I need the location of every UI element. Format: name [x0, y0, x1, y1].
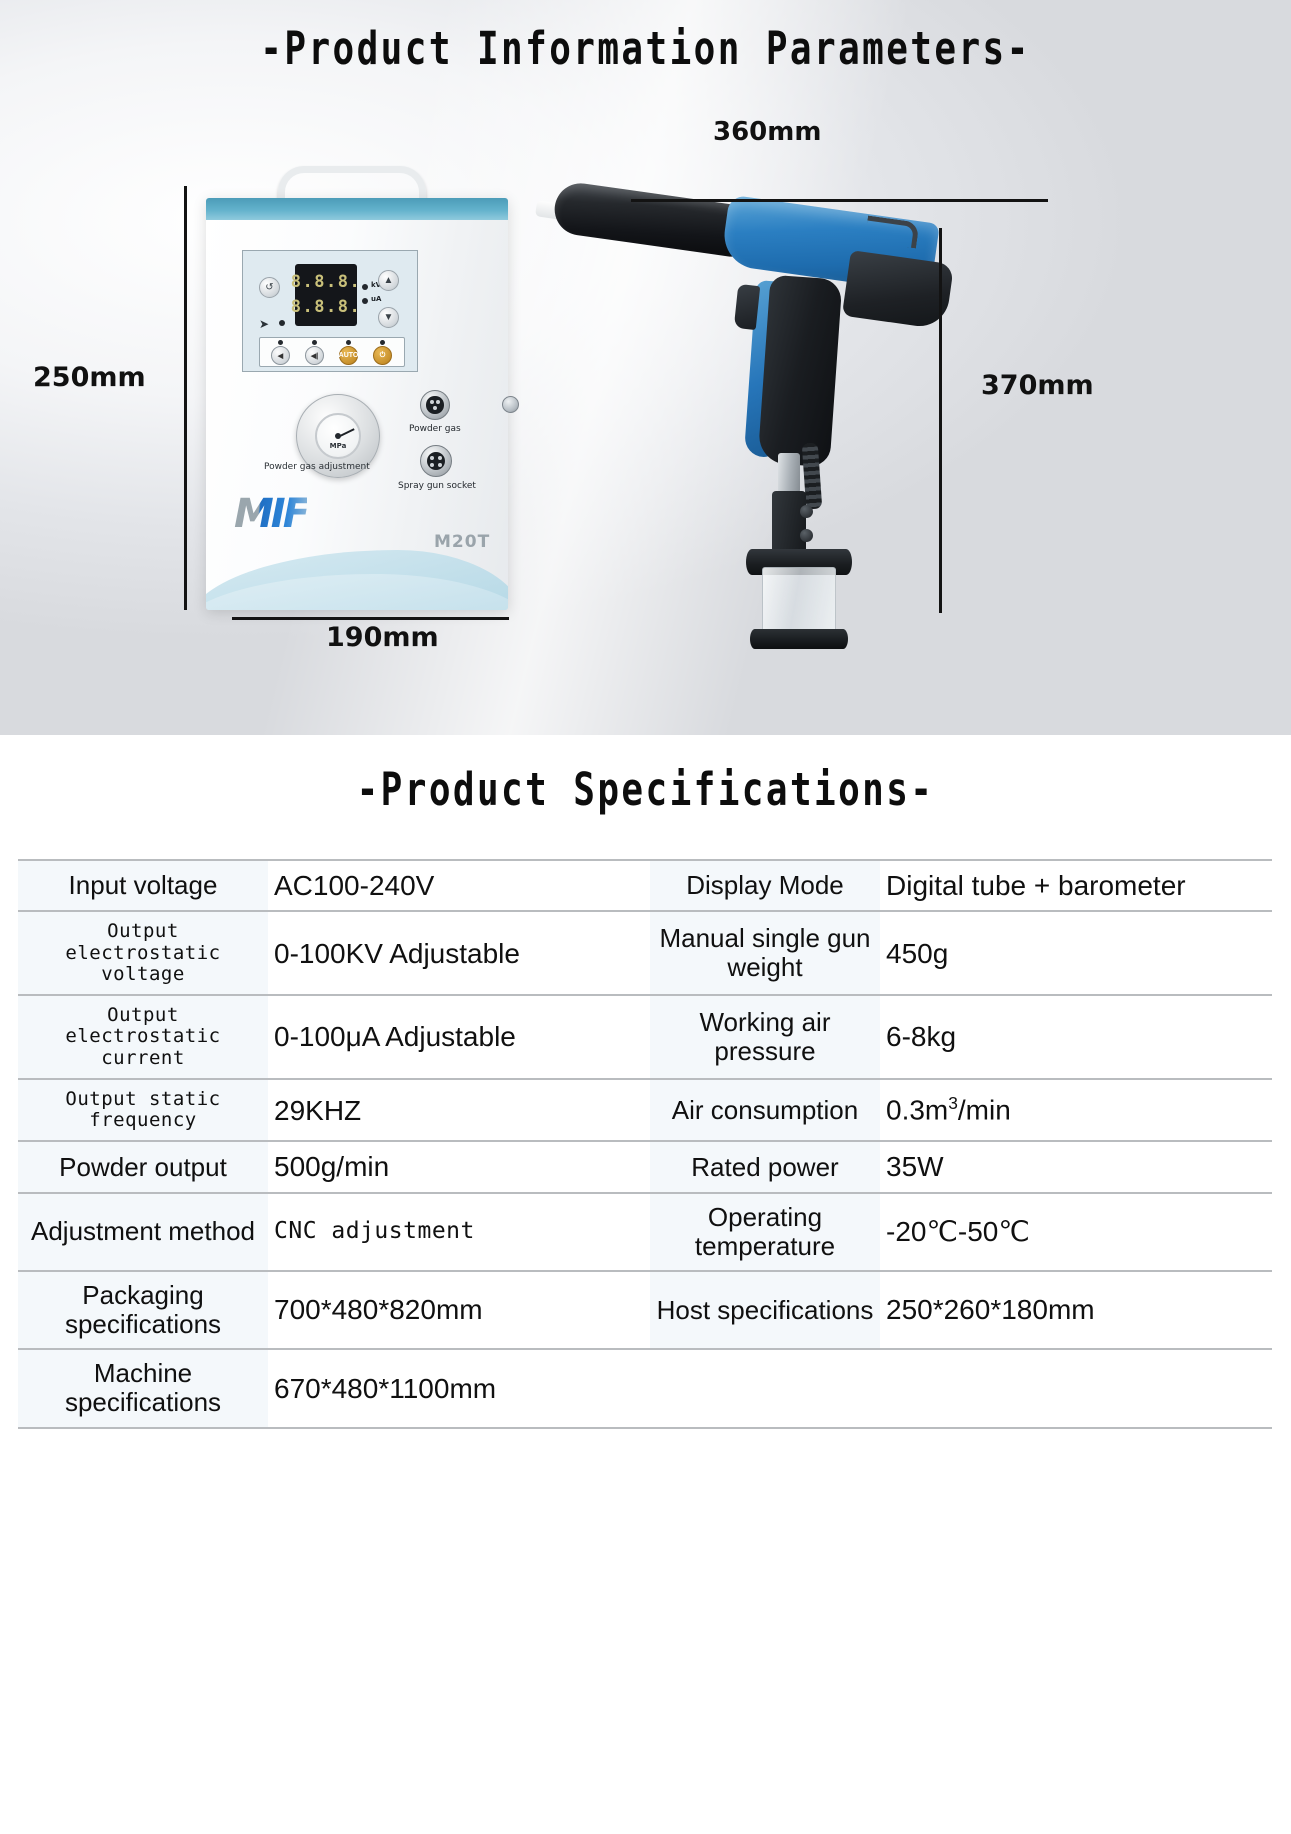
spec-value-left: 700*480*820mm [268, 1271, 650, 1349]
specifications-table: Input voltageAC100-240VDisplay ModeDigit… [18, 859, 1272, 1429]
gun-grip [758, 275, 843, 468]
spec-value-left: 500g/min [268, 1141, 650, 1192]
button-strip: ◀ ◀| AUTO ⏻ [259, 337, 405, 367]
page-title: -Product Information Parameters- [129, 22, 1162, 75]
spec-value-left: 0-100μA Adjustable [268, 995, 650, 1079]
gun-knob-upper [800, 505, 813, 518]
up-arrow-icon: ▲ [378, 270, 399, 291]
table-row: Powder output500g/minRated power35W [18, 1141, 1272, 1192]
table-row: Input voltageAC100-240VDisplay ModeDigit… [18, 860, 1272, 911]
spec-value-left: AC100-240V [268, 860, 650, 911]
dimension-label-machine-width: 190mm [326, 622, 439, 653]
side-screw-icon [502, 396, 519, 413]
spec-label-right: Display Mode [650, 860, 880, 911]
spec-label-left: Powder output [18, 1141, 268, 1192]
ua-indicator-led [362, 298, 368, 304]
spec-label-left: Output static frequency [18, 1079, 268, 1142]
specifications-section: -Product Specifications- Input voltageAC… [0, 735, 1291, 1834]
spec-label-right: Air consumption [650, 1079, 880, 1142]
gauge-unit-label: MPa [330, 442, 347, 450]
top-band [206, 198, 508, 220]
gun-indicator-led [279, 320, 285, 326]
spec-label-right [650, 1349, 880, 1427]
brand-logo: MIF [234, 494, 307, 534]
spec-value-right: 0.3m3/min [880, 1079, 1272, 1142]
digital-display: 8.8.8. 8.8.8. [295, 264, 357, 326]
strip-led-4 [380, 340, 385, 345]
auto-button: AUTO [339, 346, 358, 365]
spec-label-right: Operating temperature [650, 1193, 880, 1271]
spec-value-left: CNC adjustment [268, 1193, 650, 1271]
control-panel: ↺ ➤ 8.8.8. 8.8.8. kV uA ▲ ▼ [242, 250, 418, 372]
dimension-label-gun-height: 370mm [981, 370, 1094, 401]
spec-value-right: 35W [880, 1141, 1272, 1192]
model-label: M20T [434, 532, 490, 552]
gun-stem [778, 453, 800, 493]
table-row: Output electrostatic voltage0-100KV Adju… [18, 911, 1272, 995]
spray-gun-image [528, 185, 958, 615]
spec-value-right [880, 1349, 1272, 1427]
powder-gas-port [420, 390, 450, 420]
kv-indicator-led [362, 284, 368, 290]
spray-gun-socket-port [420, 445, 452, 477]
spec-label-left: Machine specifications [18, 1349, 268, 1427]
dimension-line-gun-length [631, 199, 1048, 202]
spec-label-right: Working air pressure [650, 995, 880, 1079]
skip-arrow-icon: ◀| [305, 346, 324, 365]
specifications-title: -Product Specifications- [129, 763, 1162, 816]
power-icon: ⏻ [373, 346, 392, 365]
table-row: Output static frequency29KHZAir consumpt… [18, 1079, 1272, 1142]
refresh-icon: ↺ [259, 277, 280, 298]
spec-value-left: 29KHZ [268, 1079, 650, 1142]
spray-gun-socket-label: Spray gun socket [398, 481, 476, 491]
knob-label: Powder gas adjustment [264, 462, 370, 472]
port-inner-a [426, 396, 443, 413]
spec-label-right: Rated power [650, 1141, 880, 1192]
spec-value-right: 450g [880, 911, 1272, 995]
dimension-line-gun-height [939, 228, 942, 613]
display-value-top: 8.8.8. [291, 274, 361, 291]
table-row: Machine specifications670*480*1100mm [18, 1349, 1272, 1427]
spray-gun-icon: ➤ [259, 317, 269, 331]
gun-rear-body [842, 250, 954, 330]
product-photo-section: -Product Information Parameters- 250mm 1… [0, 0, 1291, 735]
strip-led-2 [312, 340, 317, 345]
table-row: Output electrostatic current0-100μA Adju… [18, 995, 1272, 1079]
gun-nozzle [551, 180, 746, 258]
powder-cup-base [750, 629, 848, 649]
pressure-gauge: MPa [315, 413, 361, 459]
spec-label-right: Manual single gun weight [650, 911, 880, 995]
strip-led-1 [278, 340, 283, 345]
spec-value-left: 0-100KV Adjustable [268, 911, 650, 995]
spec-label-right: Host specifications [650, 1271, 880, 1349]
spec-value-right: 6-8kg [880, 995, 1272, 1079]
spec-label-left: Output electrostatic current [18, 995, 268, 1079]
prev-arrow-icon: ◀ [271, 346, 290, 365]
dimension-line-width-bottom [232, 617, 509, 620]
gun-trigger [734, 284, 760, 330]
strip-led-3 [346, 340, 351, 345]
spec-label-left: Input voltage [18, 860, 268, 911]
spec-value-right: Digital tube + barometer [880, 860, 1272, 911]
dimension-line-height-left [184, 186, 187, 610]
spec-value-right: 250*260*180mm [880, 1271, 1272, 1349]
gun-adapter [772, 491, 806, 553]
unit-label-ua: uA [371, 295, 381, 303]
spec-label-left: Packaging specifications [18, 1271, 268, 1349]
powder-gas-port-label: Powder gas [409, 424, 461, 434]
gun-knob-lower [800, 529, 813, 542]
down-arrow-icon: ▼ [378, 307, 399, 328]
dimension-label-gun-length: 360mm [713, 117, 821, 147]
table-row: Packaging specifications700*480*820mmHos… [18, 1271, 1272, 1349]
spec-value-left: 670*480*1100mm [268, 1349, 650, 1427]
controller-body: ↺ ➤ 8.8.8. 8.8.8. kV uA ▲ ▼ [206, 198, 508, 610]
display-value-bottom: 8.8.8. [291, 299, 361, 316]
port-inner-b [427, 452, 446, 471]
spec-label-left: Output electrostatic voltage [18, 911, 268, 995]
specifications-table-body: Input voltageAC100-240VDisplay ModeDigit… [18, 860, 1272, 1428]
dimension-label-machine-height: 250mm [33, 362, 146, 393]
spec-value-right: -20℃-50℃ [880, 1193, 1272, 1271]
table-row: Adjustment methodCNC adjustmentOperating… [18, 1193, 1272, 1271]
spec-label-left: Adjustment method [18, 1193, 268, 1271]
controller-unit-image: ↺ ➤ 8.8.8. 8.8.8. kV uA ▲ ▼ [206, 198, 508, 610]
